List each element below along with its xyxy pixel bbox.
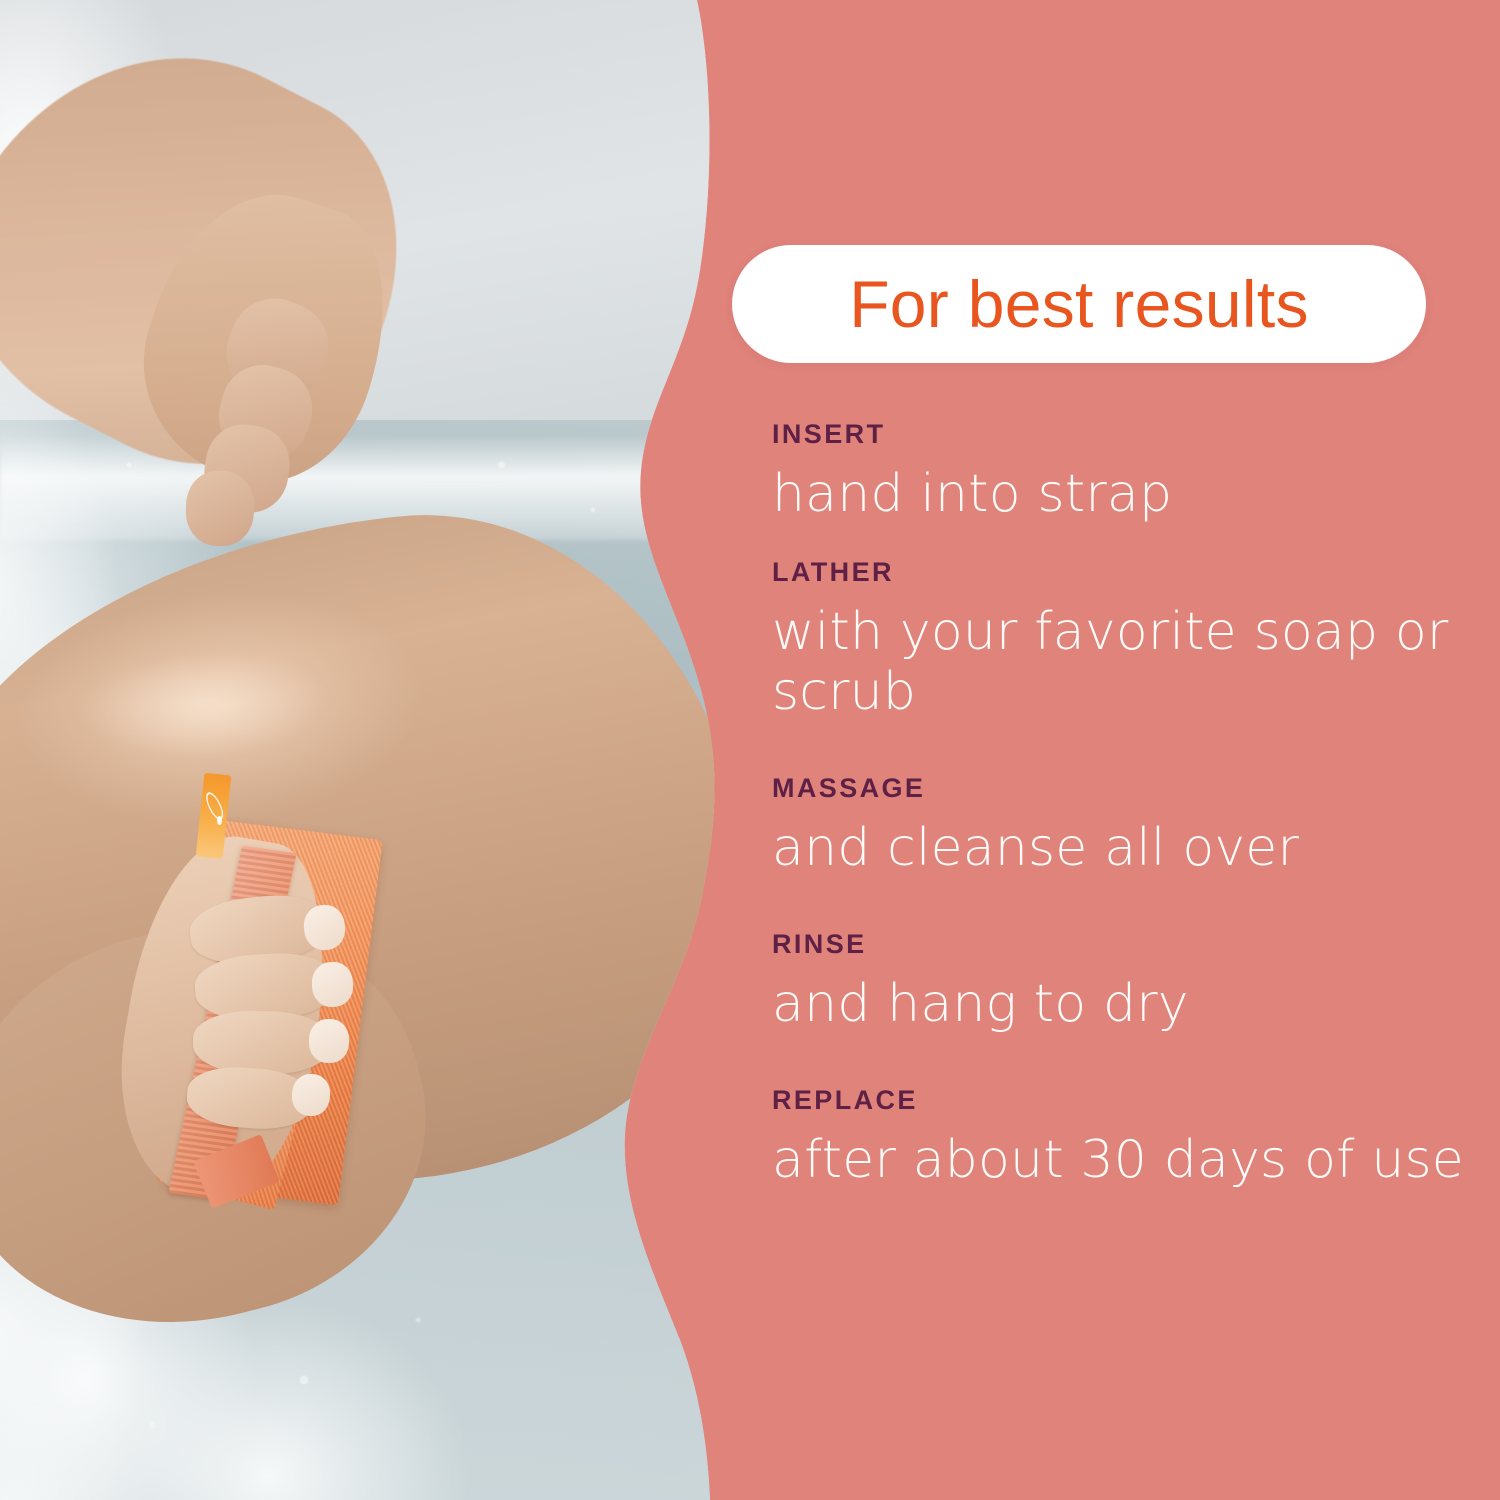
fingernail: [310, 960, 353, 1007]
photo-stage: [0, 0, 760, 1500]
step-lather: LATHER with your favorite soap or scrub: [772, 558, 1484, 722]
step-label: INSERT: [772, 420, 1484, 450]
brand-logo-dot-icon: [217, 816, 222, 825]
fingernail: [308, 1018, 348, 1062]
steps-list: INSERT hand into strap LATHER with your …: [772, 420, 1484, 1190]
instructions-panel: For best results INSERT hand into strap …: [732, 0, 1500, 1500]
step-text: hand into strap: [772, 464, 1484, 524]
step-replace: REPLACE after about 30 days of use: [772, 1086, 1484, 1190]
page-title: For best results: [849, 271, 1309, 337]
step-label: LATHER: [772, 558, 1484, 588]
finger: [185, 470, 256, 547]
step-label: MASSAGE: [772, 774, 1484, 804]
step-text: with your favorite soap or scrub: [772, 602, 1484, 723]
step-rinse: RINSE and hang to dry: [772, 930, 1484, 1034]
step-massage: MASSAGE and cleanse all over: [772, 774, 1484, 878]
step-text: and hang to dry: [772, 974, 1484, 1034]
step-text: and cleanse all over: [772, 818, 1484, 878]
lifestyle-photo: [0, 0, 760, 1500]
product-infographic: For best results INSERT hand into strap …: [0, 0, 1500, 1500]
step-label: REPLACE: [772, 1086, 1484, 1116]
step-insert: INSERT hand into strap: [772, 420, 1484, 524]
skin-highlight: [26, 618, 385, 792]
step-text: after about 30 days of use: [772, 1130, 1484, 1190]
step-label: RINSE: [772, 930, 1484, 960]
title-pill: For best results: [732, 245, 1426, 363]
